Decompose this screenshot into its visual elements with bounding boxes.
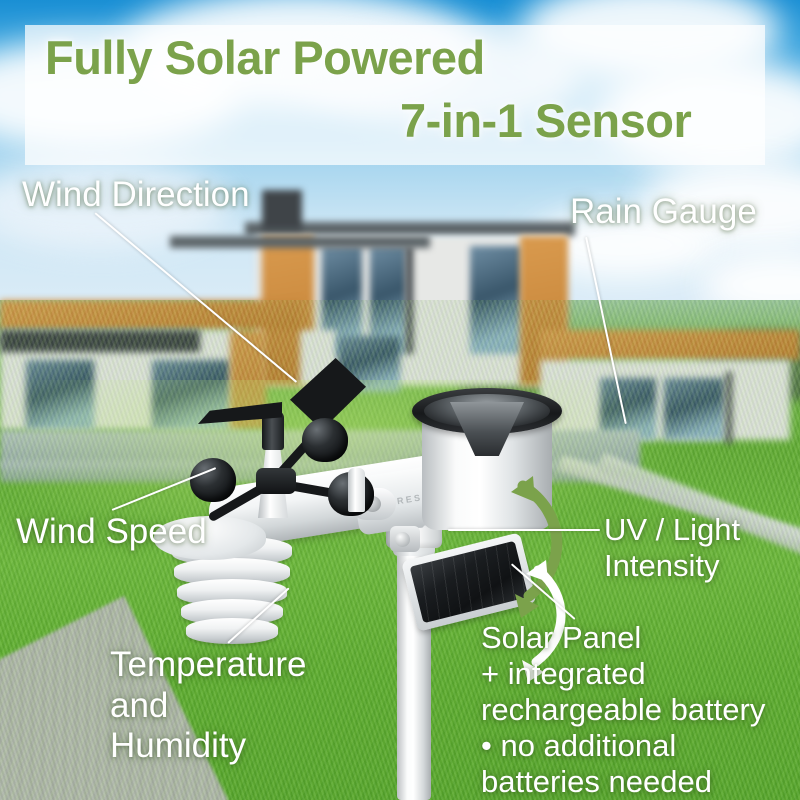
uv-light-sensor-post [348, 468, 365, 512]
callout-uv-light-line2: Intensity [604, 548, 740, 584]
callout-temperature-line1: Temperature [110, 645, 306, 686]
leader-line-uv-light [448, 529, 600, 531]
callout-temperature-line2: and [110, 686, 306, 727]
callout-wind-direction: Wind Direction [22, 175, 250, 215]
solar-panel-hinge-knob [395, 532, 410, 547]
callout-temperature-line3: Humidity [110, 726, 306, 767]
callout-solar-line2: + integrated [481, 656, 765, 692]
callout-solar-panel: Solar Panel + integrated rechargeable ba… [481, 620, 765, 800]
callout-solar-line4: • no additional [481, 728, 765, 764]
callout-uv-light-line1: UV / Light [604, 512, 740, 548]
anemometer-hub [256, 468, 296, 494]
headline-primary: Fully Solar Powered [45, 30, 485, 85]
house-chimney [262, 190, 302, 230]
callout-rain-gauge: Rain Gauge [570, 192, 757, 232]
anemometer-cup [302, 418, 348, 462]
callout-temperature-humidity: Temperature and Humidity [110, 645, 306, 767]
anemometer-cup [190, 458, 236, 502]
callout-solar-line3: rechargeable battery [481, 692, 765, 728]
callout-wind-speed: Wind Speed [16, 512, 207, 552]
callout-solar-line1: Solar Panel [481, 620, 765, 656]
headline-secondary: 7-in-1 Sensor [400, 93, 691, 148]
infographic-canvas: Fully Solar Powered 7-in-1 Sensor BRESSE… [0, 0, 800, 800]
callout-solar-line5: batteries needed [481, 764, 765, 800]
callout-uv-light: UV / Light Intensity [604, 512, 740, 584]
house-roof [170, 236, 430, 248]
